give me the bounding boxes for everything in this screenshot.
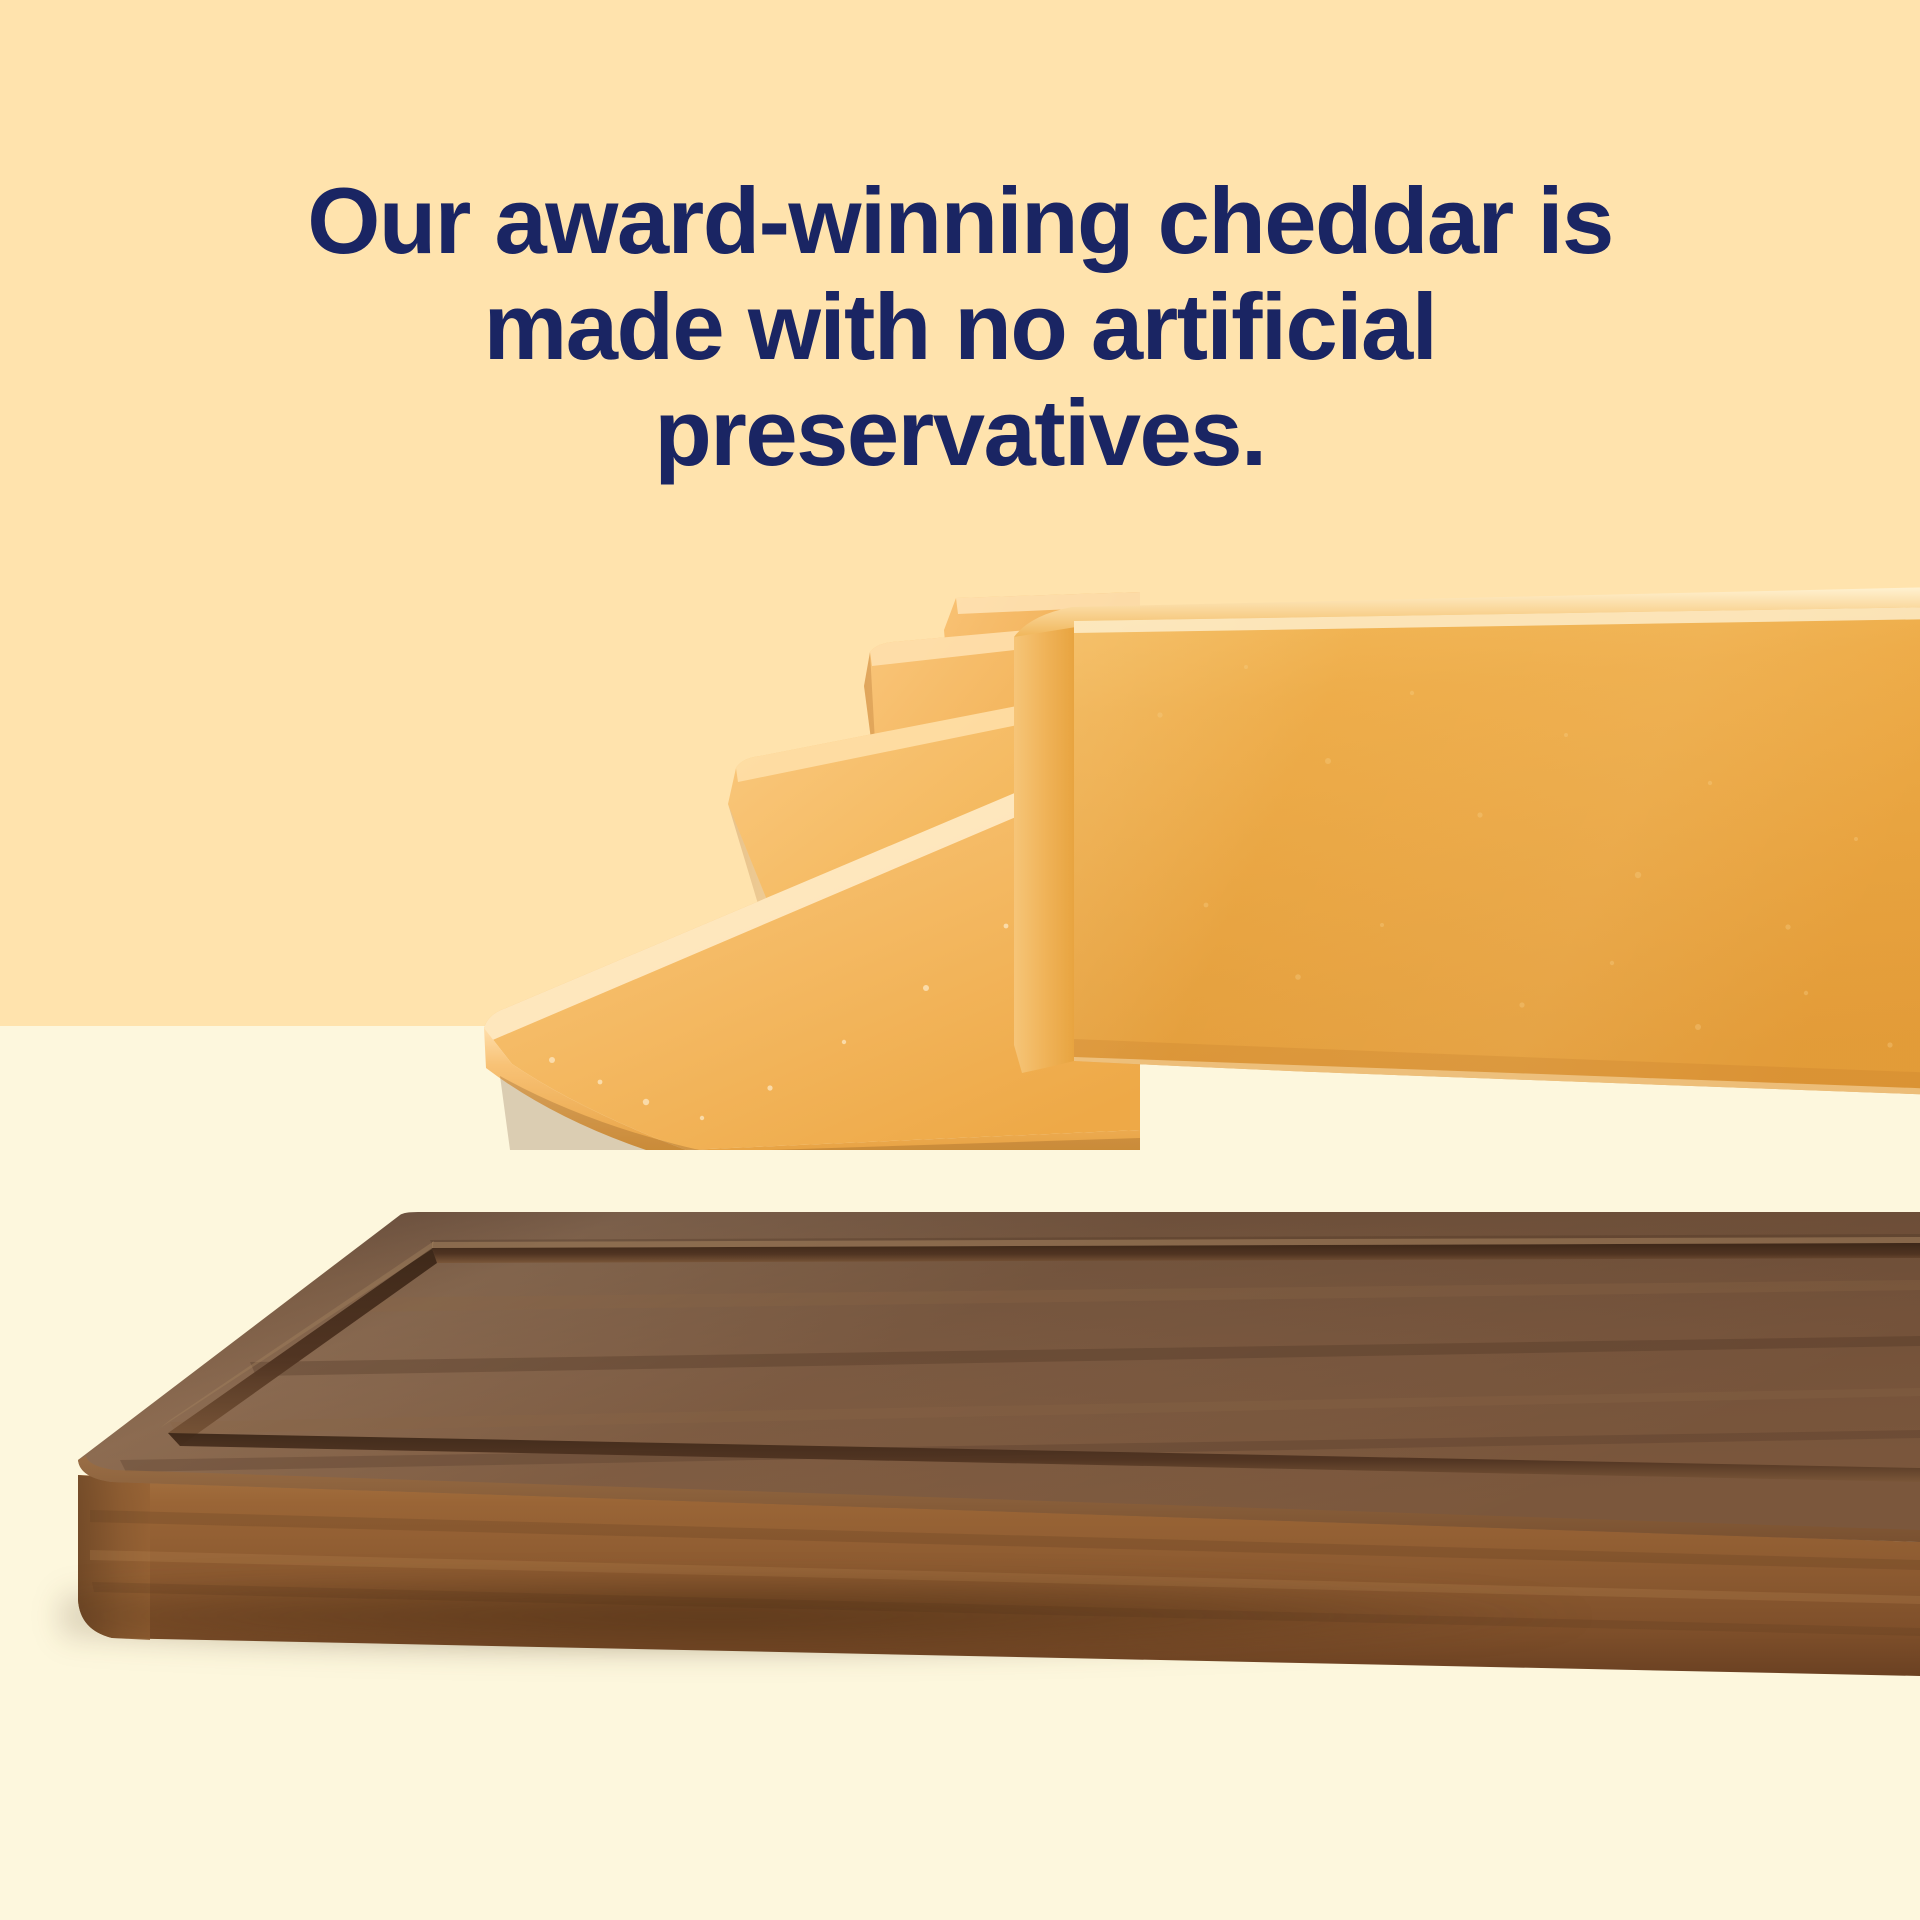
headline-line-2: made with no artificial xyxy=(150,274,1770,380)
headline-line-1: Our award-winning cheddar is xyxy=(150,168,1770,274)
board-drop-shadow xyxy=(60,1580,1920,1670)
headline: Our award-winning cheddar is made with n… xyxy=(0,168,1920,487)
ad-canvas: Our award-winning cheddar is made with n… xyxy=(0,0,1920,1920)
headline-line-3: preservatives. xyxy=(150,380,1770,486)
cheese-block xyxy=(1010,575,1920,1135)
